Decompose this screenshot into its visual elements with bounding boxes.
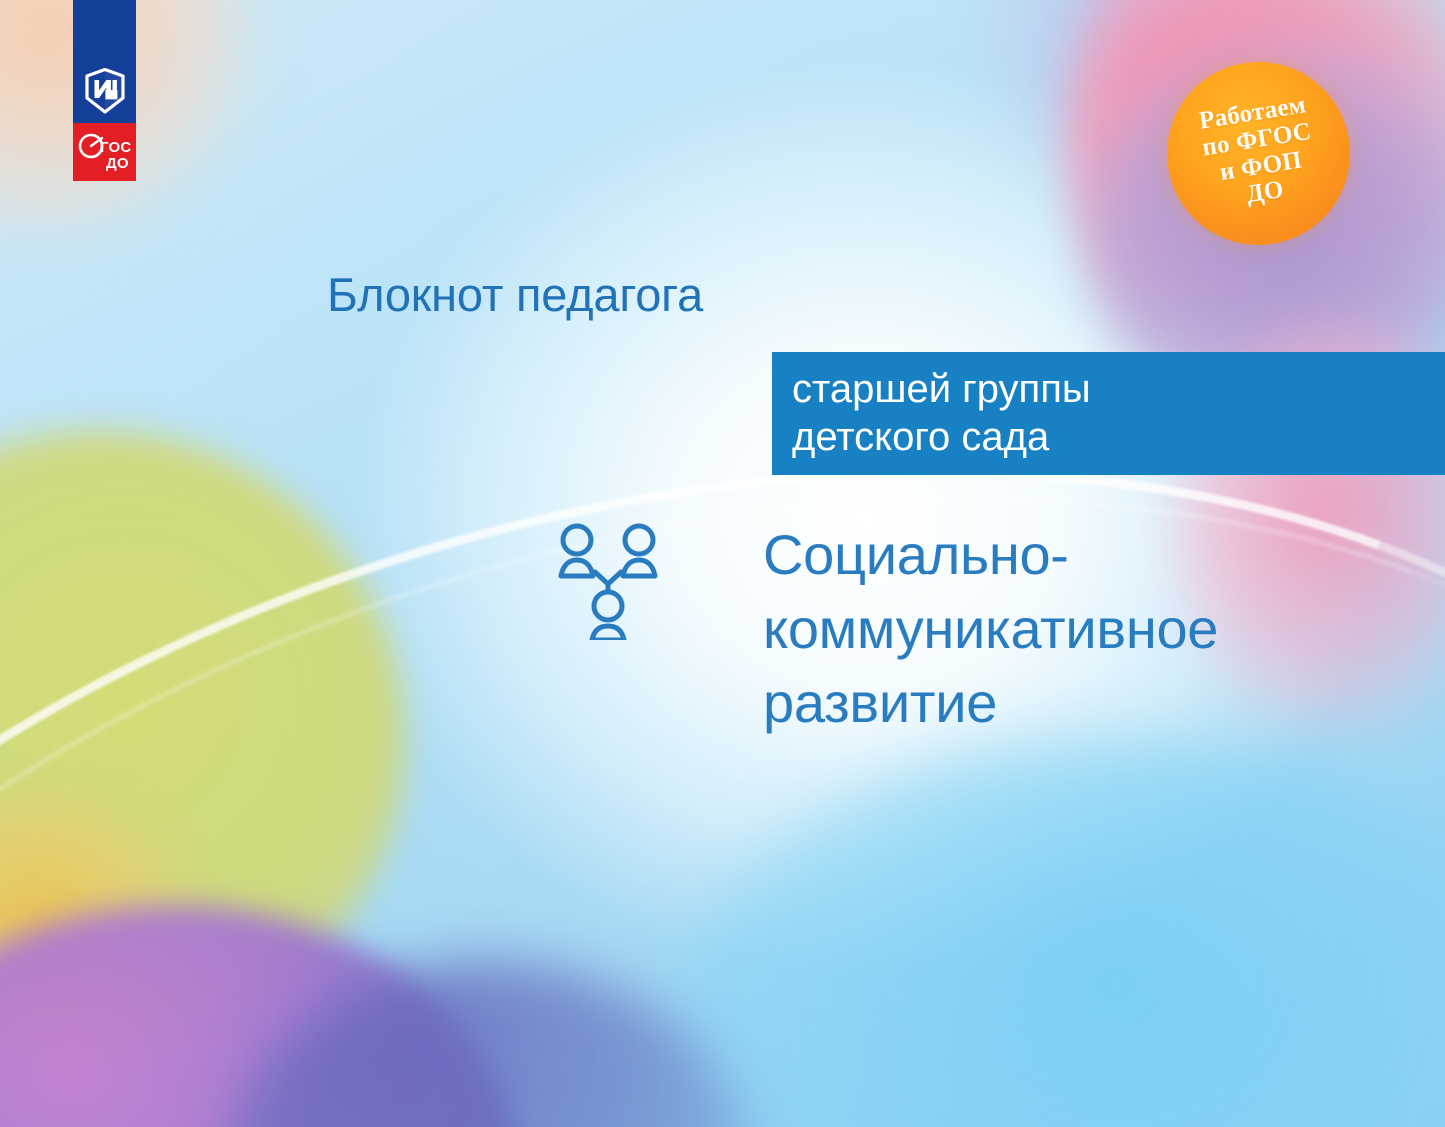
- subtitle-banner: старшей группы детского сада: [772, 352, 1445, 475]
- kicker-text: Блокнот педагога: [327, 267, 703, 322]
- gosdo-mark-icon: ГОС ДО: [73, 123, 136, 181]
- svg-text:ГОС: ГОС: [100, 139, 131, 156]
- prosveschenie-shield-icon: [73, 0, 136, 123]
- three-people-network-icon: [555, 520, 665, 640]
- subtitle-banner-text: старшей группы детского сада: [772, 366, 1091, 460]
- page-title: Социально- коммуникативное развитие: [763, 518, 1373, 740]
- fgos-badge: Работаем по ФГОС и ФОП ДО: [1167, 62, 1350, 245]
- publisher-logo: ГОС ДО: [73, 0, 136, 181]
- fgos-badge-text: Работаем по ФГОС и ФОП ДО: [1196, 92, 1321, 215]
- book-cover: ГОС ДО Работаем по ФГОС и ФОП ДО Блокнот…: [0, 0, 1445, 1127]
- svg-text:ДО: ДО: [106, 155, 129, 172]
